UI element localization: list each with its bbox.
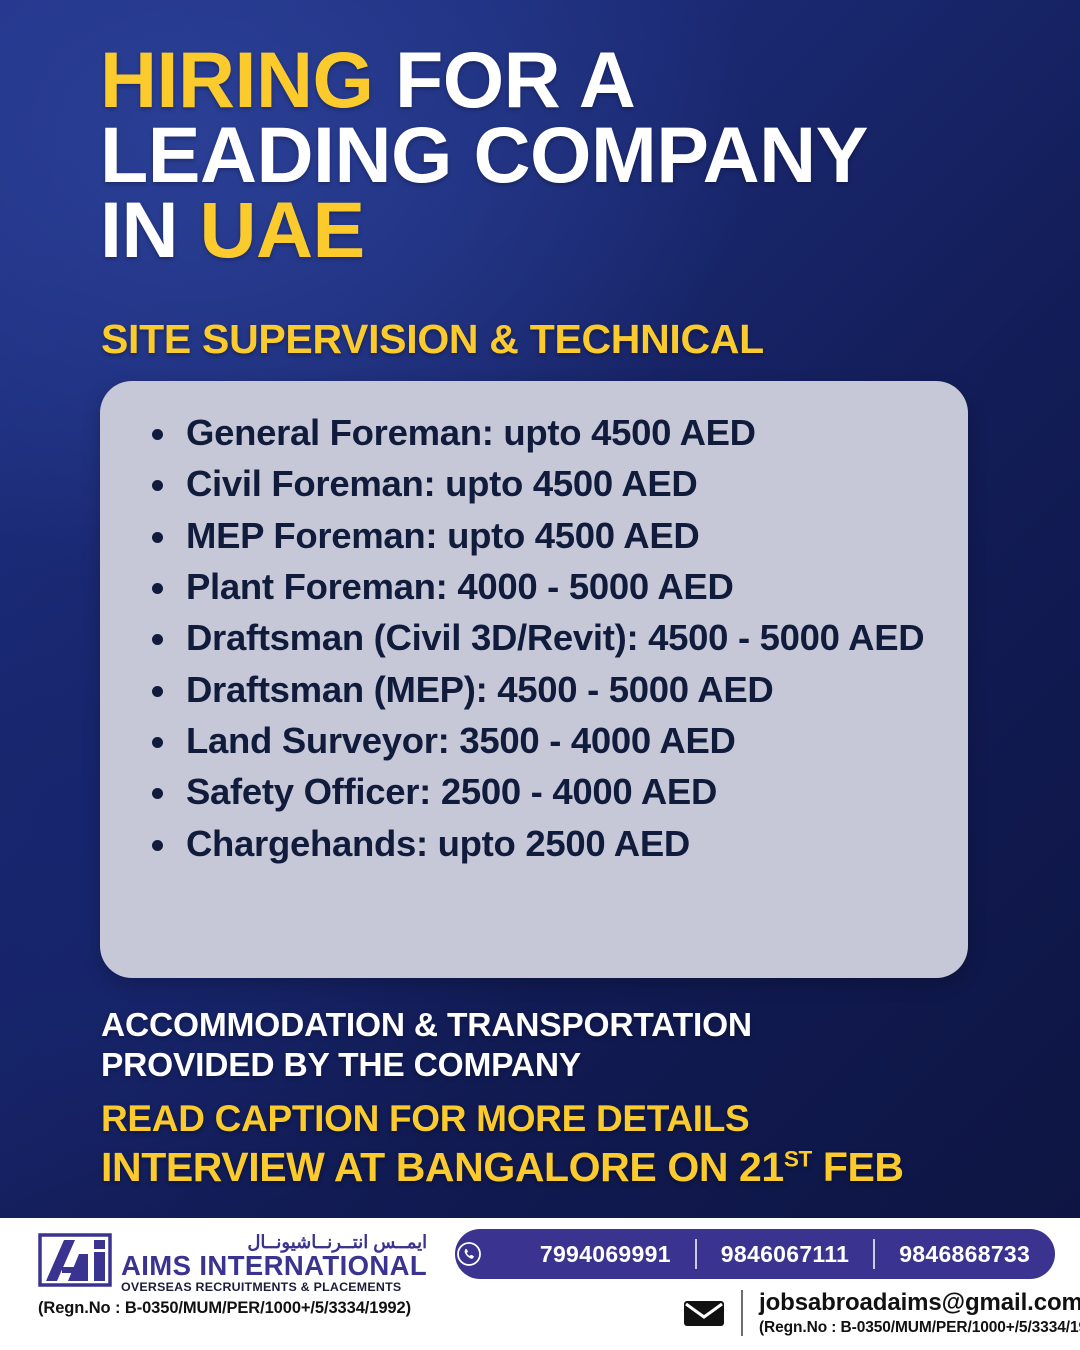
aims-logo-icon: [38, 1232, 112, 1292]
interview-date-cta: INTERVIEW AT BANGALORE ON 21ST FEB: [101, 1144, 904, 1191]
page-title: HIRING FOR A LEADING COMPANY IN UAE: [100, 42, 1000, 267]
interview-text: INTERVIEW AT BANGALORE ON 21: [101, 1144, 784, 1190]
phone-number-1[interactable]: 7994069991: [516, 1241, 695, 1268]
category-subheading: SITE SUPERVISION & TECHNICAL: [101, 316, 764, 363]
headline-in-word: IN: [100, 185, 199, 274]
list-item: Land Surveyor: 3500 - 4000 AED: [136, 720, 932, 762]
benefits-line-2: PROVIDED BY THE COMPANY: [101, 1046, 1001, 1086]
list-item: Plant Foreman: 4000 - 5000 AED: [136, 566, 932, 608]
company-logo-block: ايمــس انتــرنــاشيونــال AIMS INTERNATI…: [38, 1232, 418, 1318]
list-item: MEP Foreman: upto 4500 AED: [136, 515, 932, 557]
logo-company-name: AIMS INTERNATIONAL: [121, 1252, 427, 1280]
logo-tagline: OVERSEAS RECRUITMENTS & PLACEMENTS: [121, 1281, 427, 1295]
read-caption-cta: READ CAPTION FOR MORE DETAILS: [101, 1098, 749, 1140]
list-item: Civil Foreman: upto 4500 AED: [136, 463, 932, 505]
email-registration-number: (Regn.No : B-0350/MUM/PER/1000+/5/3334/1…: [759, 1319, 1080, 1337]
headline-line-2: LEADING COMPANY: [100, 117, 1000, 192]
list-item: Draftsman (MEP): 4500 - 5000 AED: [136, 669, 932, 711]
phone-icon: [456, 1241, 482, 1267]
divider: [741, 1290, 743, 1336]
interview-month: FEB: [812, 1144, 904, 1190]
list-item: Chargehands: upto 2500 AED: [136, 823, 932, 865]
phone-contact-pill[interactable]: 7994069991 9846067111 9846868733: [455, 1229, 1055, 1279]
list-item: General Foreman: upto 4500 AED: [136, 412, 932, 454]
list-item: Safety Officer: 2500 - 4000 AED: [136, 771, 932, 813]
envelope-icon: [683, 1298, 725, 1328]
email-address[interactable]: jobsabroadaims@gmail.com: [759, 1290, 1080, 1317]
job-list: General Foreman: upto 4500 AED Civil For…: [136, 412, 932, 865]
interview-ordinal-suffix: ST: [784, 1146, 812, 1171]
benefits-text: ACCOMMODATION & TRANSPORTATION PROVIDED …: [101, 1006, 1001, 1085]
phone-number-2[interactable]: 9846067111: [697, 1241, 873, 1268]
headline-uae-word: UAE: [199, 185, 364, 274]
logo-registration-number: (Regn.No : B-0350/MUM/PER/1000+/5/3334/1…: [38, 1299, 418, 1318]
headline-line-1: HIRING FOR A: [100, 42, 1000, 117]
email-contact-row[interactable]: jobsabroadaims@gmail.com (Regn.No : B-03…: [683, 1290, 1080, 1337]
job-list-card: General Foreman: upto 4500 AED Civil For…: [100, 381, 968, 978]
footer-bar: ايمــس انتــرنــاشيونــال AIMS INTERNATI…: [0, 1218, 1080, 1350]
job-advertisement-poster: HIRING FOR A LEADING COMPANY IN UAE SITE…: [0, 0, 1080, 1350]
benefits-line-1: ACCOMMODATION & TRANSPORTATION: [101, 1006, 1001, 1046]
list-item: Draftsman (Civil 3D/Revit): 4500 - 5000 …: [136, 617, 932, 659]
phone-number-3[interactable]: 9846868733: [875, 1241, 1054, 1268]
headline-line-3: IN UAE: [100, 192, 1000, 267]
logo-arabic-name: ايمــس انتــرنــاشيونــال: [121, 1233, 427, 1251]
email-text-block: jobsabroadaims@gmail.com (Regn.No : B-03…: [759, 1290, 1080, 1337]
